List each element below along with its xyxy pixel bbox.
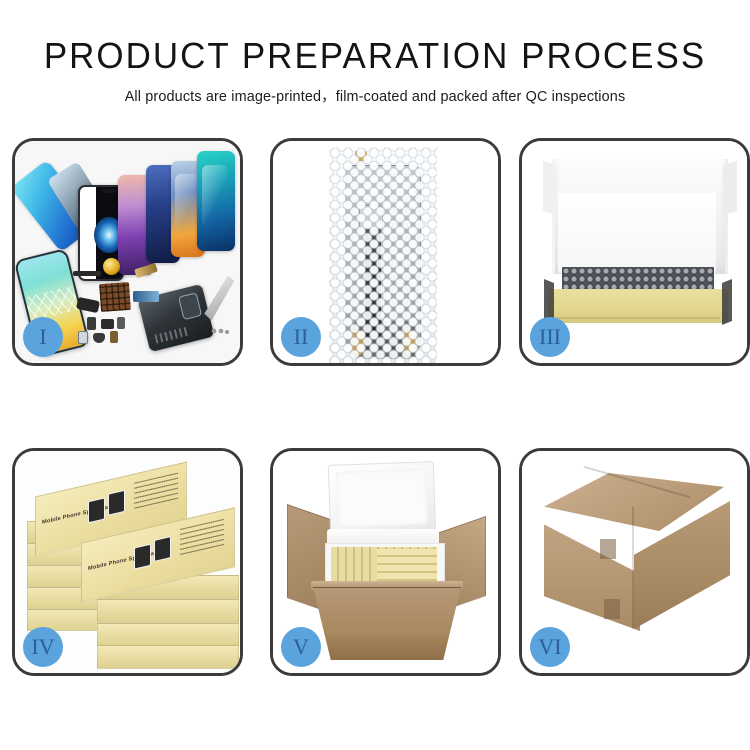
process-step-grid: I II — [0, 138, 750, 698]
box-label-phone-icon-1a — [88, 497, 105, 523]
box-label-phone-icon-2b — [154, 536, 171, 562]
small-part-icon-6 — [110, 331, 118, 343]
box-label-phone-icon-1b — [108, 490, 125, 516]
small-part-icon-2 — [101, 319, 114, 329]
screws-icon — [211, 327, 229, 335]
chip-grid-part-icon — [99, 282, 131, 312]
carton-left-face-icon — [544, 507, 640, 631]
step-badge-3: III — [530, 317, 570, 357]
step-badge-4: IV — [23, 627, 63, 667]
step-badge-2: II — [281, 317, 321, 357]
process-step-panel-4: Mobile Phone Spare Parts Mobile Phone Sp… — [12, 448, 243, 676]
box-edge-icon-8 — [97, 623, 239, 647]
styrofoam-lid-icon — [328, 461, 437, 539]
gold-coil-part-icon — [103, 258, 120, 275]
header: PRODUCT PREPARATION PROCESS All products… — [0, 36, 750, 106]
small-part-icon-4 — [78, 331, 88, 344]
teal-phone-icon — [197, 151, 235, 251]
tray-fold-line-icon — [556, 317, 720, 319]
product-preparation-process-infographic: PRODUCT PREPARATION PROCESS All products… — [0, 0, 750, 750]
phone-notch-icon — [101, 189, 117, 193]
box-edge-icon-9 — [97, 645, 239, 669]
page-subtitle: All products are image-printed，film-coat… — [0, 85, 750, 106]
small-part-icon-5 — [93, 333, 105, 343]
blue-ribbon-part-icon — [133, 291, 159, 302]
carton-tape-icon-2 — [604, 599, 620, 619]
process-step-panel-6: VI — [519, 448, 750, 676]
box-label-text-lines-1 — [134, 473, 178, 513]
process-step-panel-3: III — [519, 138, 750, 366]
crack-lines-icon — [25, 286, 80, 322]
step-badge-6: VI — [530, 627, 570, 667]
carton-tape-icon-1 — [600, 539, 616, 559]
box-edge-icon-7 — [97, 599, 239, 623]
box-label-phone-icon-2a — [134, 544, 151, 570]
small-part-icon-1 — [87, 317, 96, 330]
flex-cable-part-icon — [73, 271, 101, 276]
carton-vertical-edge-icon — [632, 507, 634, 629]
bubble-texture-icon — [329, 147, 437, 363]
bubble-wrap-bag-icon — [329, 147, 437, 363]
process-step-panel-1: I — [12, 138, 243, 366]
page-title: PRODUCT PREPARATION PROCESS — [11, 36, 739, 76]
foam-sheet-icon — [558, 193, 716, 273]
tweezer-tool-icon — [201, 274, 234, 322]
step-badge-5: V — [281, 627, 321, 667]
small-part-icon-3 — [117, 317, 125, 329]
carton-body-icon — [313, 587, 461, 660]
process-step-panel-5: V — [270, 448, 501, 676]
box-label-text-lines-2 — [180, 519, 224, 559]
process-step-panel-2: II — [270, 138, 501, 366]
step-badge-1: I — [23, 317, 63, 357]
